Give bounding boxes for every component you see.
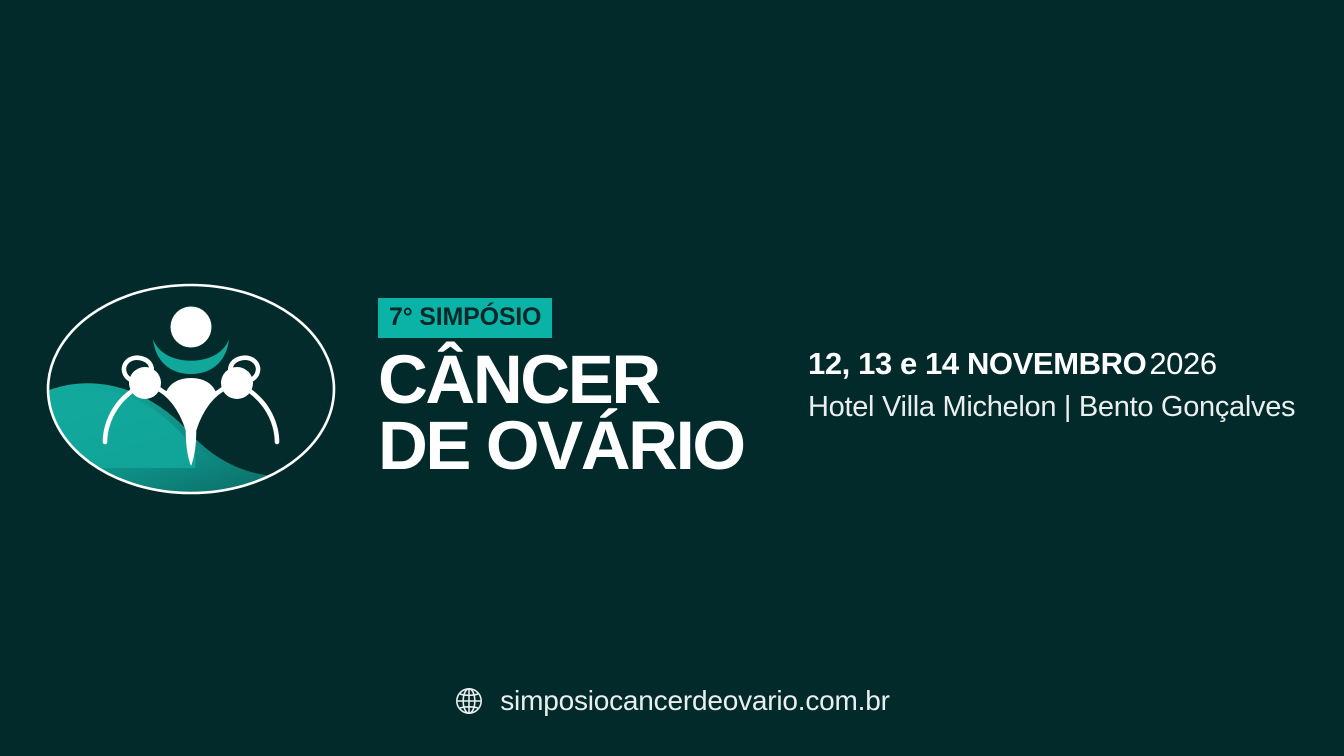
- title-line-2: DE OVÁRIO: [378, 413, 738, 479]
- event-venue: Hotel Villa Michelon | Bento Gonçalves: [808, 391, 1328, 424]
- event-dates-days: 12, 13 e 14 NOVEMBRO: [808, 346, 1146, 381]
- title-line-1: CÂNCER: [378, 347, 738, 413]
- logo-head-circle: [171, 307, 212, 348]
- logo-ovary-left: [129, 367, 161, 399]
- page-title: CÂNCER DE OVÁRIO: [378, 347, 738, 478]
- ovarian-cancer-symposium-logo: [45, 282, 337, 496]
- site-footer: simposiocancerdeovario.com.br: [0, 686, 1344, 716]
- logo-ovary-right: [221, 367, 253, 399]
- site-url[interactable]: simposiocancerdeovario.com.br: [500, 687, 889, 715]
- event-banner: 7° SIMPÓSIO CÂNCER DE OVÁRIO 12, 13 e 14…: [0, 0, 1344, 756]
- event-info: 12, 13 e 14 NOVEMBRO2026 Hotel Villa Mic…: [808, 345, 1328, 425]
- edition-badge: 7° SIMPÓSIO: [378, 298, 552, 338]
- event-dates: 12, 13 e 14 NOVEMBRO2026: [808, 345, 1328, 382]
- title-block: 7° SIMPÓSIO CÂNCER DE OVÁRIO: [378, 298, 738, 478]
- globe-icon: [454, 686, 484, 716]
- event-year: 2026: [1149, 346, 1216, 381]
